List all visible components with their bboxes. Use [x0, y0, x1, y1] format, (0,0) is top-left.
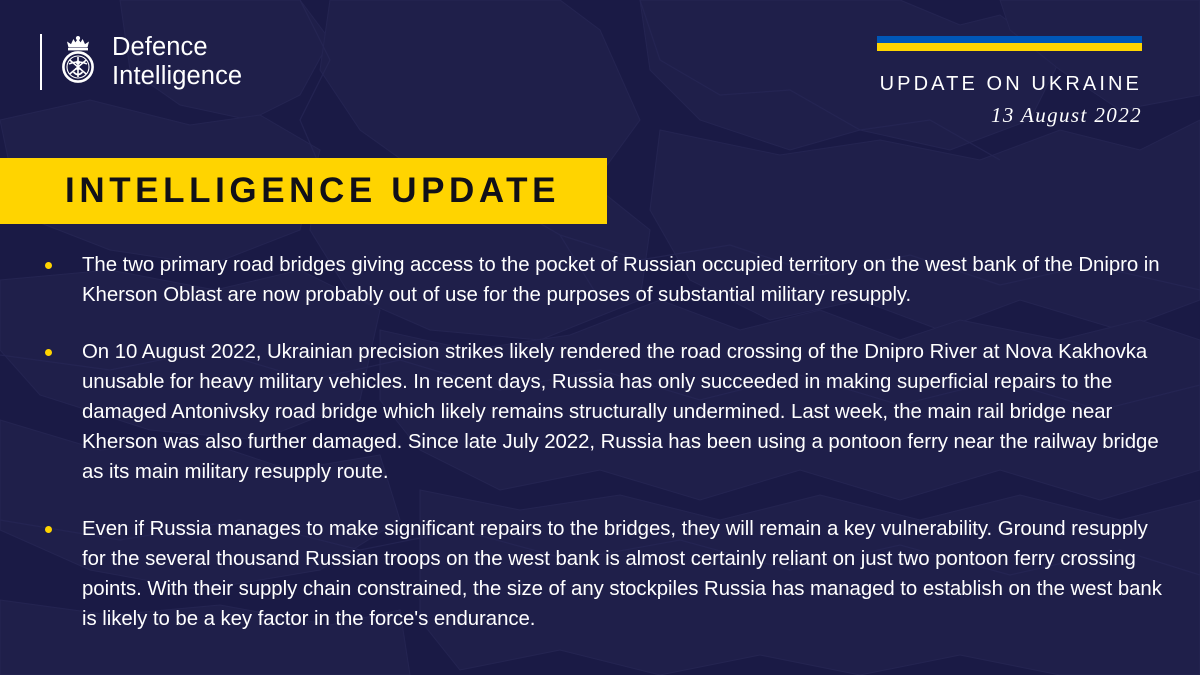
update-date: 13 August 2022 [877, 103, 1142, 128]
brand-line-1: Defence [112, 33, 242, 62]
list-item: The two primary road bridges giving acce… [0, 250, 1200, 310]
bullet-list: The two primary road bridges giving acce… [0, 250, 1200, 661]
bullet-dot-icon [45, 262, 52, 269]
brand-line-2: Intelligence [112, 62, 242, 91]
list-item: Even if Russia manages to make significa… [0, 514, 1200, 634]
ukraine-flag-bar [877, 36, 1142, 51]
banner-title: INTELLIGENCE UPDATE [0, 171, 560, 211]
mod-crest-icon [55, 33, 101, 91]
list-item: On 10 August 2022, Ukrainian precision s… [0, 337, 1200, 487]
flag-blue-stripe [877, 36, 1142, 43]
bullet-dot-icon [45, 349, 52, 356]
flag-yellow-stripe [877, 43, 1142, 51]
bullet-text: The two primary road bridges giving acce… [82, 250, 1172, 310]
bullet-dot-icon [45, 526, 52, 533]
brand-text: Defence Intelligence [112, 33, 242, 91]
header-right-block: UPDATE ON UKRAINE 13 August 2022 [877, 36, 1142, 128]
intelligence-update-banner: INTELLIGENCE UPDATE [0, 158, 607, 224]
page-header: Defence Intelligence UPDATE ON UKRAINE 1… [0, 0, 1200, 150]
bullet-text: Even if Russia manages to make significa… [82, 514, 1172, 634]
defence-intelligence-logo: Defence Intelligence [40, 33, 242, 91]
logo-divider [40, 34, 42, 90]
update-label: UPDATE ON UKRAINE [877, 73, 1142, 96]
bullet-text: On 10 August 2022, Ukrainian precision s… [82, 337, 1172, 487]
